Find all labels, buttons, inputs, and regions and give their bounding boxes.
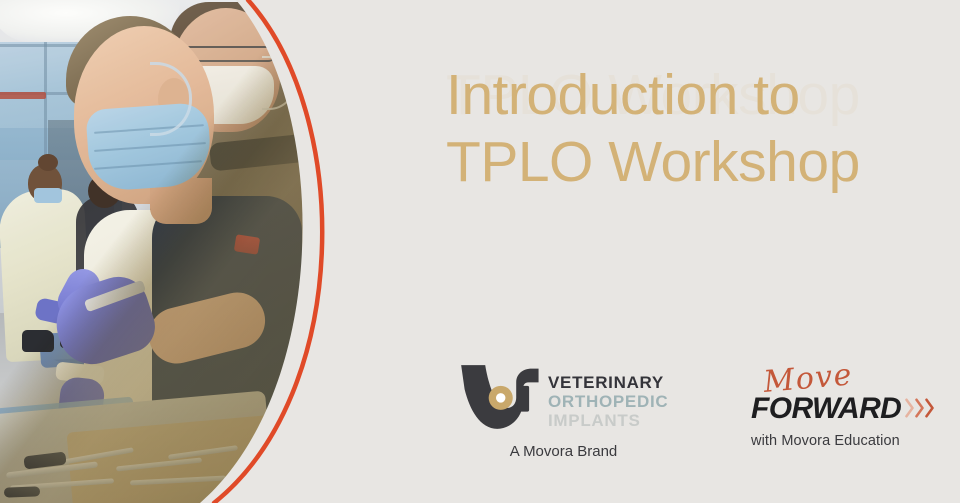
voi-line-implants: IMPLANTS [548,412,668,429]
move-forward-script-word: Move [762,360,854,398]
voi-line-veterinary: VETERINARY [548,374,668,391]
move-forward-tagline: with Movora Education [751,433,951,449]
voi-swoosh-icon [456,360,542,434]
event-banner: IN TPLO Workshop Introduction to TPLO Wo… [0,0,960,503]
voi-line-orthopedic: ORTHOPEDIC [548,393,668,410]
workshop-photo: IN [0,0,400,503]
photo-soften-layer [0,0,400,503]
banner-content: TPLO Workshop Introduction to TPLO Works… [446,0,960,503]
chevron-group-icon [904,398,934,418]
move-forward-logo-lockup: Move FORWARD with Movora Education [751,368,951,449]
voi-logo-lockup: VETERINARY ORTHOPEDIC IMPLANTS A Movora … [456,358,671,460]
voi-wordmark: VETERINARY ORTHOPEDIC IMPLANTS [548,358,668,429]
page-title: Introduction to TPLO Workshop [446,62,916,197]
voi-tagline: A Movora Brand [456,443,671,460]
chevron-right-icon [905,398,914,418]
chevron-right-icon [925,398,934,418]
chevron-right-icon [915,398,924,418]
